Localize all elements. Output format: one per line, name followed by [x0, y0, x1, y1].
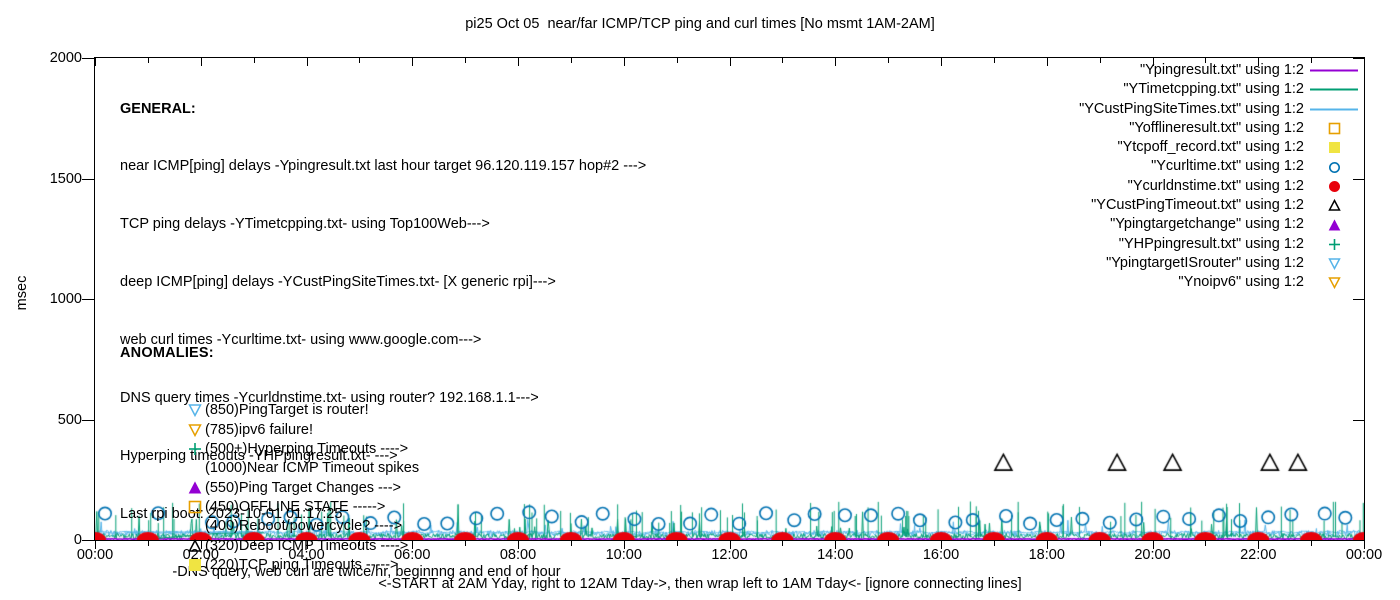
x-tick-mark-top [412, 58, 413, 66]
y-tick-mark [82, 420, 94, 421]
x-tick-mark [571, 541, 572, 546]
x-tick-mark-top [571, 58, 572, 63]
legend-item[interactable]: "YTimetcpping.txt" using 1:2 [1079, 80, 1360, 99]
x-tick-mark [677, 541, 678, 546]
anomaly-label: (550)Ping Target Changes ---> [205, 479, 401, 498]
x-tick-mark [994, 541, 995, 546]
anomalies-heading: ANOMALIES: [120, 344, 214, 363]
x-tick-mark-top [148, 58, 149, 63]
anomaly-open-square-icon [188, 500, 204, 516]
x-tick-label: 08:00 [500, 548, 536, 563]
x-tick-mark-top [518, 58, 519, 66]
anomaly-row: (550)Ping Target Changes ---> [120, 479, 214, 498]
anomaly-label: (850)PingTarget is router! [205, 401, 369, 420]
y-tick-mark-right [1353, 179, 1365, 180]
legend-item[interactable]: "Ytcpoff_record.txt" using 1:2 [1079, 138, 1360, 157]
x-tick-mark [782, 541, 783, 546]
x-tick-mark-top [835, 58, 836, 66]
x-tick-mark-top [201, 58, 202, 66]
x-tick-mark-top [730, 58, 731, 66]
anomaly-row: (500+)Hyperping Timeouts ----> [120, 440, 214, 459]
y-tick-mark-right [1353, 299, 1365, 300]
x-tick-mark-top [782, 58, 783, 63]
x-tick-label: 04:00 [288, 548, 324, 563]
x-tick-mark-top [624, 58, 625, 66]
x-tick-mark-top [1311, 58, 1312, 63]
legend-item[interactable]: "YCustPingSiteTimes.txt" using 1:2 [1079, 100, 1360, 119]
anomaly-label: (400)Reboot/powercycle? ----> [205, 517, 402, 536]
x-tick-mark [148, 541, 149, 546]
x-tick-mark-top [1153, 58, 1154, 66]
x-tick-mark-top [307, 58, 308, 66]
x-tick-label: 06:00 [394, 548, 430, 563]
x-tick-mark [888, 541, 889, 546]
x-tick-mark-top [994, 58, 995, 63]
y-axis-label: msec [14, 253, 30, 333]
x-axis-label: <-START at 2AM Yday, right to 12AM Tday-… [0, 576, 1400, 592]
anomaly-row: (450)OFFLINE STATE -----> [120, 498, 214, 517]
anomaly-open-triangle-down-icon [188, 423, 204, 439]
legend-key-filled-square-icon [1308, 138, 1360, 157]
general-line: TCP ping delays -YTimetcpping.txt- using… [120, 215, 646, 234]
anomaly-plus-icon [188, 442, 204, 458]
x-tick-mark-top [1364, 58, 1365, 66]
x-tick-mark [1311, 541, 1312, 546]
x-tick-mark-top [254, 58, 255, 63]
legend-item[interactable]: "Ycurldnstime.txt" using 1:2 [1079, 177, 1360, 196]
x-tick-label: 16:00 [923, 548, 959, 563]
legend-item[interactable]: "YpingtargetISrouter" using 1:2 [1079, 254, 1360, 273]
legend-item[interactable]: "Ypingresult.txt" using 1:2 [1079, 61, 1360, 80]
x-tick-mark [1100, 541, 1101, 546]
x-tick-mark-top [1047, 58, 1048, 66]
anomaly-row: (400)Reboot/powercycle? ----> [120, 517, 214, 536]
legend-key-open-triangle-down-icon [1308, 273, 1360, 292]
legend-key-line-icon [1308, 100, 1360, 119]
y-tick-label: 1500 [50, 172, 82, 187]
anomaly-label: (785)ipv6 failure! [205, 421, 313, 440]
legend-key-open-square-icon [1308, 119, 1360, 138]
legend-item[interactable]: "Ynoipv6" using 1:2 [1079, 273, 1360, 292]
y-tick-mark [82, 58, 94, 59]
x-tick-label: 12:00 [711, 548, 747, 563]
anomaly-label: (500+)Hyperping Timeouts ----> [205, 440, 408, 459]
anomaly-filled-triangle-up-icon [188, 481, 204, 497]
x-tick-mark-top [1100, 58, 1101, 63]
x-tick-mark-top [95, 58, 96, 66]
x-tick-mark-top [465, 58, 466, 63]
legend-key-plus-icon [1308, 235, 1360, 254]
legend-key-open-circle-icon [1308, 157, 1360, 176]
x-tick-mark [465, 541, 466, 546]
chart-page: pi25 Oct 05 near/far ICMP/TCP ping and c… [0, 0, 1400, 600]
general-line: deep ICMP[ping] delays -YCustPingSiteTim… [120, 273, 646, 292]
legend-item[interactable]: "Ypingtargetchange" using 1:2 [1079, 215, 1360, 234]
anomaly-row: (850)PingTarget is router! [120, 401, 214, 420]
anomaly-row: (785)ipv6 failure! [120, 421, 214, 440]
general-heading: GENERAL: [120, 100, 646, 119]
y-tick-label: 500 [58, 413, 82, 428]
y-tick-label: 1000 [50, 292, 82, 307]
x-tick-label: 10:00 [606, 548, 642, 563]
anomaly-label: (450)OFFLINE STATE -----> [205, 498, 385, 517]
anomaly-row: (1000)Near ICMP Timeout spikes [120, 459, 214, 478]
legend-key-open-triangle-up-icon [1308, 196, 1360, 215]
anomaly-open-triangle-down-icon [188, 403, 204, 419]
x-tick-label: 18:00 [1029, 548, 1065, 563]
y-tick-mark [82, 179, 94, 180]
x-tick-label: 20:00 [1134, 548, 1170, 563]
x-tick-label: 14:00 [817, 548, 853, 563]
x-tick-mark [254, 541, 255, 546]
anomaly-label: (1000)Near ICMP Timeout spikes [205, 459, 419, 478]
y-tick-label: 2000 [50, 51, 82, 66]
y-tick-label: 0 [74, 533, 82, 548]
legend-item[interactable]: "YCustPingTimeout.txt" using 1:2 [1079, 196, 1360, 215]
x-tick-mark-top [677, 58, 678, 63]
x-tick-mark [359, 541, 360, 546]
legend-key-line-icon [1308, 80, 1360, 99]
x-tick-mark-top [1205, 58, 1206, 63]
chart-title: pi25 Oct 05 near/far ICMP/TCP ping and c… [0, 16, 1400, 32]
x-tick-label: 00:00 [77, 548, 113, 563]
y-tick-mark [82, 540, 94, 541]
x-tick-mark-top [888, 58, 889, 63]
legend-item[interactable]: "YHPpingresult.txt" using 1:2 [1079, 235, 1360, 254]
x-tick-mark [1205, 541, 1206, 546]
x-tick-mark-top [1258, 58, 1259, 66]
legend: "Ypingresult.txt" using 1:2"YTimetcpping… [1079, 61, 1360, 293]
legend-key-filled-triangle-up-icon [1308, 215, 1360, 234]
legend-item[interactable]: "Ycurltime.txt" using 1:2 [1079, 157, 1360, 176]
x-tick-mark-top [359, 58, 360, 63]
x-tick-label: 22:00 [1240, 548, 1276, 563]
legend-key-open-triangle-down-icon [1308, 254, 1360, 273]
y-tick-mark [82, 299, 94, 300]
legend-key-line-icon [1308, 61, 1360, 80]
legend-item[interactable]: "Yofflineresult.txt" using 1:2 [1079, 119, 1360, 138]
y-tick-mark-right [1353, 420, 1365, 421]
x-tick-mark-top [941, 58, 942, 66]
x-tick-label: 00:00 [1346, 548, 1382, 563]
x-tick-label: 02:00 [183, 548, 219, 563]
general-line: near ICMP[ping] delays -Ypingresult.txt … [120, 157, 646, 176]
